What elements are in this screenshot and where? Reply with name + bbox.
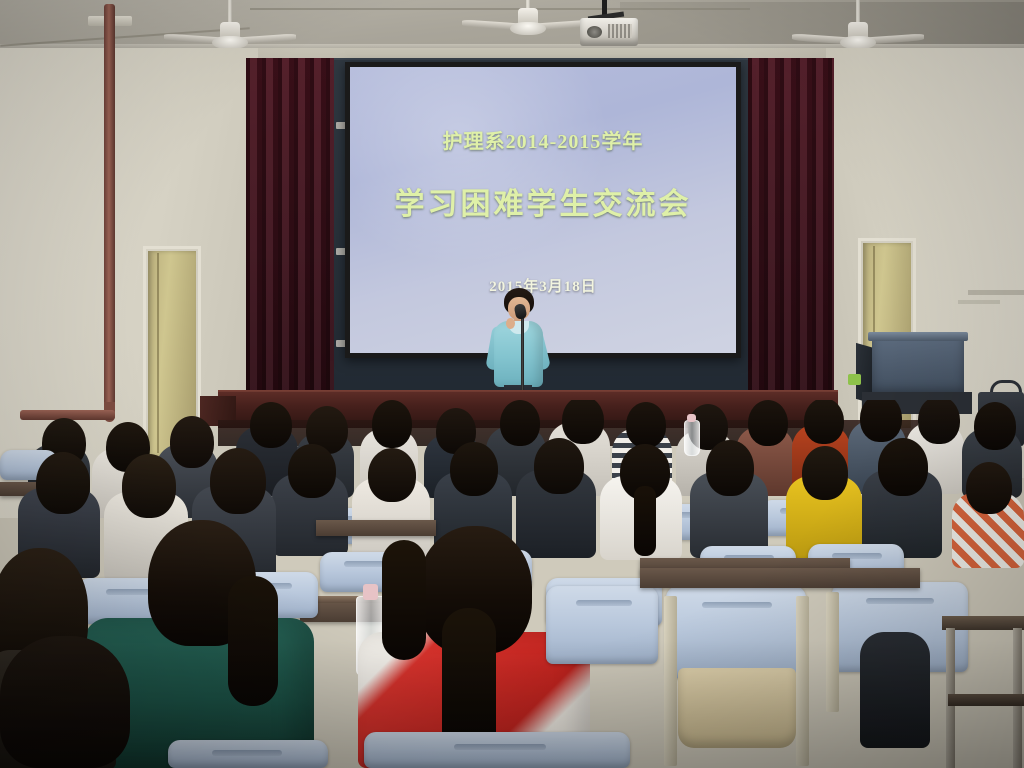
person-head	[36, 452, 90, 514]
person-head	[534, 438, 584, 494]
bottle-cap	[363, 584, 378, 600]
desk	[640, 568, 920, 588]
person-head	[500, 400, 540, 446]
person-head	[170, 416, 214, 468]
chair-back[interactable]	[364, 732, 630, 768]
water-bottle[interactable]	[684, 420, 700, 456]
chair-back-empty[interactable]	[546, 586, 658, 664]
person-head	[288, 444, 336, 498]
ceiling-fan-center	[488, 0, 568, 36]
podium	[872, 336, 964, 398]
person-head	[860, 400, 902, 442]
lecture-hall-photo: 护理系2014-2015学年 学习困难学生交流会 2015年3月18日	[0, 0, 1024, 768]
person-head	[802, 446, 848, 500]
chair-back[interactable]	[168, 740, 328, 768]
person-head	[706, 440, 754, 496]
person-ponytail	[634, 486, 656, 556]
person-head	[974, 402, 1016, 450]
screen-glow	[350, 67, 610, 267]
person-head	[122, 454, 176, 518]
person-hair-strand	[382, 540, 426, 660]
chair-post	[826, 592, 839, 712]
chair-post	[664, 596, 677, 766]
wall-pipe-vertical	[104, 4, 115, 419]
person-head	[748, 400, 788, 446]
person-head	[450, 442, 498, 496]
desk	[316, 520, 436, 536]
wall-mark-secondary	[958, 300, 1000, 304]
person-head	[918, 400, 960, 444]
chair-back-empty[interactable]	[666, 586, 806, 678]
chair-post	[796, 596, 809, 766]
person-head	[966, 462, 1012, 514]
person-head	[626, 402, 666, 448]
person-head	[368, 448, 416, 502]
chair-seat[interactable]	[678, 668, 796, 748]
person-head	[878, 438, 928, 496]
person-hair-strand	[228, 576, 278, 706]
presenter-hand	[506, 318, 515, 329]
person-head	[804, 400, 844, 444]
person-head	[372, 400, 412, 448]
presenter	[487, 288, 549, 406]
side-metal-table-shelf	[948, 694, 1024, 706]
green-tag-icon	[848, 374, 861, 385]
stage-curtain-left	[246, 58, 334, 398]
wall-mark	[968, 290, 1024, 295]
ceiling-projector	[580, 0, 640, 48]
audience-area	[0, 400, 1024, 768]
slide-title-line1: 护理系2014-2015学年	[350, 125, 736, 154]
podium-top	[868, 332, 968, 341]
stage-curtain-right	[748, 58, 834, 398]
person-head	[250, 402, 292, 448]
person-head	[562, 400, 604, 444]
person-legs	[860, 632, 930, 748]
person-head	[210, 448, 266, 514]
slide-title-line2: 学习困难学生交流会	[350, 179, 736, 223]
person-head	[0, 636, 130, 768]
bottle-cap	[687, 414, 696, 422]
